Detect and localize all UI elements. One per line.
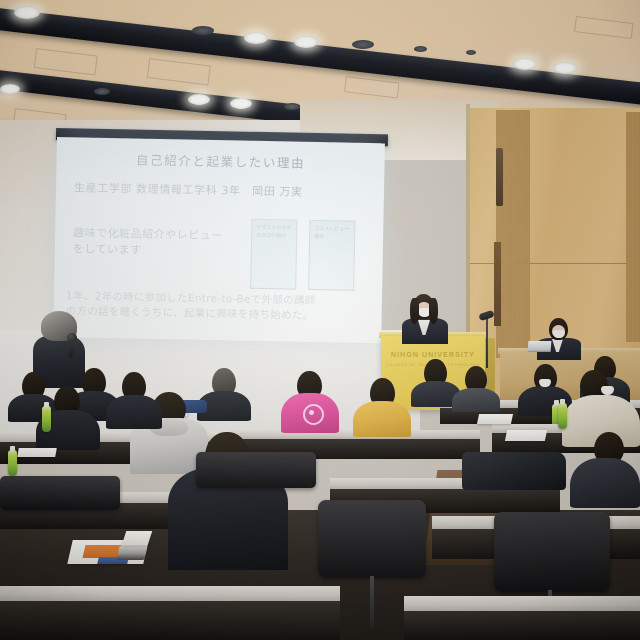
ceiling-light-off	[192, 26, 214, 35]
desk-panel	[404, 611, 640, 640]
attendee-body	[106, 395, 162, 429]
wood-slat-column	[626, 112, 640, 342]
slide-thumbnail-b-caption: コスメレビュー 冊子	[314, 226, 350, 242]
microphone-icon	[67, 333, 77, 342]
wall-dark-strip	[494, 242, 501, 326]
black-backpack	[462, 452, 566, 490]
ceiling-light-off	[284, 103, 300, 110]
jacket-emblem-icon	[303, 404, 324, 425]
projector-screen: 自己紹介と起業したい理由 生産工学部 数理情報工学科 3年 岡田 万実 趣味で化…	[53, 137, 385, 343]
lecture-hall-photo: 自己紹介と起業したい理由 生産工学部 数理情報工学科 3年 岡田 万実 趣味で化…	[0, 0, 640, 640]
slide-title: 自己紹介と起業したい理由	[56, 148, 384, 173]
desk-top	[0, 586, 340, 602]
ceiling-light	[14, 6, 40, 19]
attendee-body	[570, 458, 640, 508]
slide-thumbnail-image: コスメレビュー 冊子	[308, 220, 355, 291]
ceiling-light	[513, 58, 537, 70]
slide-thumbnail-a-caption: イラスト付きの カタログ紹介	[256, 225, 292, 241]
drink-bottle	[42, 406, 51, 432]
handout-paper	[17, 448, 57, 457]
laptop	[528, 341, 552, 352]
small-device	[116, 546, 147, 560]
attendee-body	[452, 388, 500, 412]
ceiling-light-off	[414, 46, 427, 52]
ceiling-light-off	[352, 40, 374, 49]
handout-paper	[505, 430, 547, 441]
ceiling-light	[553, 62, 577, 74]
chair-back	[494, 512, 610, 592]
podium-university-name: NIHON UNIVERSITY	[381, 352, 485, 359]
slide-body-hobby: 趣味で化粧品紹介やレビュー をしています	[73, 225, 223, 260]
ceiling-light	[0, 84, 20, 94]
ceiling-light	[188, 94, 210, 105]
chair-back	[196, 452, 316, 488]
wall-speaker-unit	[496, 148, 503, 206]
jacket-emblem-center	[309, 410, 314, 415]
presenter-hair	[429, 298, 438, 324]
drink-bottle	[8, 450, 17, 476]
slide-subtitle: 生産工学部 数理情報工学科 3年 岡田 万実	[74, 179, 303, 199]
handout-paper	[122, 531, 153, 545]
ceiling-light-off	[466, 50, 476, 55]
drink-bottle	[558, 403, 567, 429]
ceiling-panel-seam	[147, 58, 211, 85]
slide-thumbnail-image: イラスト付きの カタログ紹介	[250, 219, 297, 290]
ceiling-light	[294, 36, 318, 48]
ceiling-light	[230, 98, 252, 109]
ceiling-panel-seam	[574, 16, 634, 39]
slide-body-motivation: 1年、2年の時に参加したEntre-to-Beで外部の講師 の方の話を聴くうちに…	[66, 289, 377, 324]
microphone-stand	[486, 318, 488, 368]
ceiling-light-off	[94, 88, 110, 95]
desk-top	[404, 596, 640, 612]
desk-panel	[0, 601, 340, 640]
chair-leg	[370, 576, 374, 628]
chair-back	[0, 476, 120, 510]
handout-paper	[477, 414, 513, 424]
attendee-mustard-sweater	[353, 401, 411, 437]
ceiling-panel-seam	[344, 76, 400, 98]
presenter-hair	[410, 298, 419, 324]
ceiling-light	[244, 32, 268, 44]
ceiling-panel-seam	[34, 48, 98, 75]
chair-back	[318, 500, 426, 578]
